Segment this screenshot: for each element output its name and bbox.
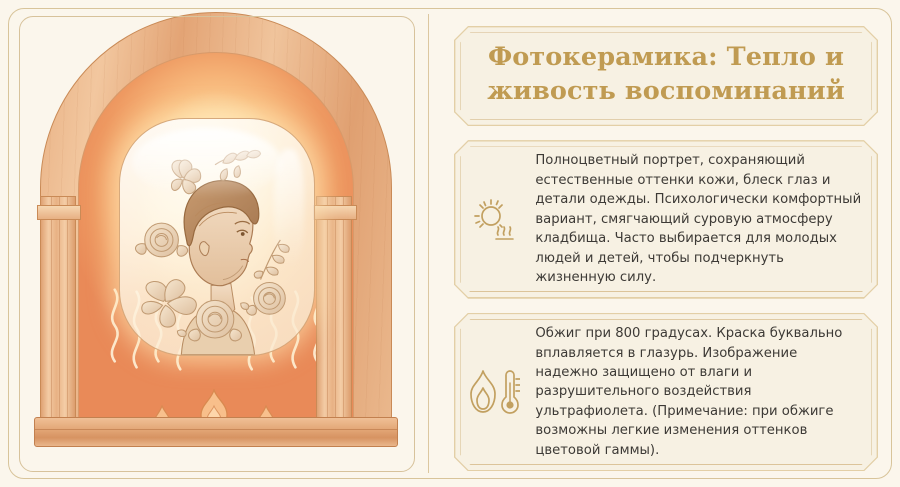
glaze-highlight [132,128,282,198]
content-panel: Фотокерамика: Тепло и живость воспоминан… [436,0,900,487]
column-capital-right [313,205,357,220]
illustration-panel [0,0,428,487]
panel-divider [428,14,429,473]
column-capital-left [37,205,81,220]
feature-card-color-text: Полноцветный портрет, сохраняющий естест… [535,151,862,287]
title-card: Фотокерамика: Тепло и живость воспоминан… [454,26,878,126]
page-title: Фотокерамика: Тепло и живость воспоминан… [473,41,858,108]
sun-heat-icon [465,195,523,243]
glaze-highlight-secondary [274,149,304,269]
feature-card-firing[interactable]: Обжиг при 800 градусах. Краска буквально… [454,313,878,472]
photoceramic-medallion [119,118,315,356]
kiln-column-right [316,196,352,432]
feature-card-color[interactable]: Полноцветный портрет, сохраняющий естест… [454,140,878,299]
kiln-column-left [40,196,76,432]
flame-thermometer-icon [465,369,523,415]
feature-card-firing-text: Обжиг при 800 градусах. Краска буквально… [535,324,862,460]
kiln-base-ledge [34,417,398,447]
infographic-root: Фотокерамика: Тепло и живость воспоминан… [0,0,900,487]
